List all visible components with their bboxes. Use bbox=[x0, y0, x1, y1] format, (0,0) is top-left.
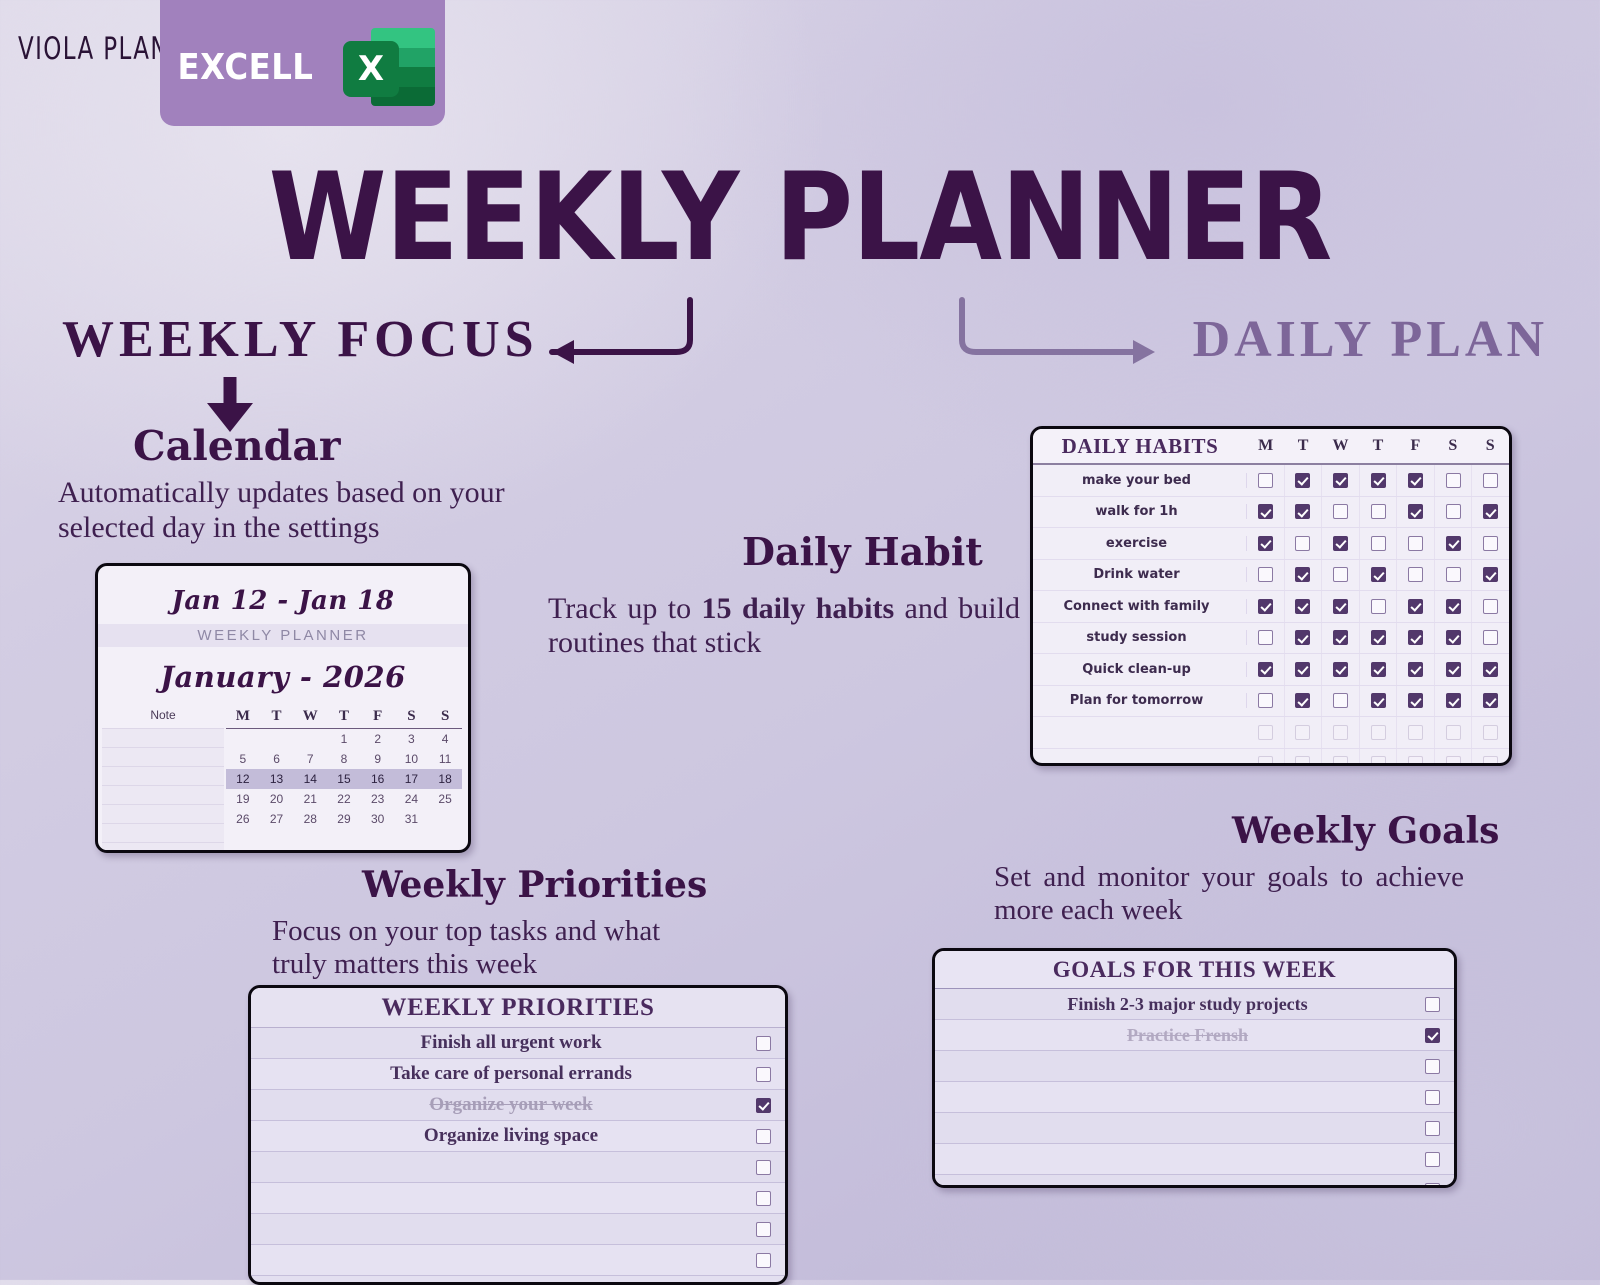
calendar-day-cell[interactable]: 26 bbox=[226, 809, 260, 829]
checkbox-checked-icon[interactable] bbox=[1371, 567, 1386, 582]
habit-day-cell[interactable] bbox=[1472, 591, 1509, 622]
habit-row[interactable]: exercise bbox=[1033, 528, 1509, 560]
habit-day-cell[interactable] bbox=[1472, 749, 1509, 767]
habits-day-header: T bbox=[1284, 437, 1321, 455]
calendar-day-header: T bbox=[327, 708, 361, 729]
checkbox-empty-icon[interactable] bbox=[1446, 567, 1461, 582]
habit-day-cell[interactable] bbox=[1472, 560, 1509, 591]
calendar-description: Automatically updates based on your sele… bbox=[58, 476, 538, 546]
goals-table-title: GOALS FOR THIS WEEK bbox=[935, 951, 1454, 989]
checkbox-empty-icon[interactable] bbox=[1483, 630, 1498, 645]
habit-day-cell[interactable] bbox=[1360, 686, 1398, 717]
calendar-widget[interactable]: Jan 12 - Jan 18 WEEKLY PLANNER January -… bbox=[95, 563, 471, 853]
habit-day-cell[interactable] bbox=[1247, 497, 1285, 528]
checkbox-empty-icon[interactable] bbox=[1425, 1059, 1440, 1074]
calendar-day-cell[interactable]: 30 bbox=[361, 809, 395, 829]
calendar-day-cell[interactable]: 16 bbox=[361, 769, 395, 789]
habit-day-cell[interactable] bbox=[1472, 654, 1509, 685]
habit-day-cell[interactable] bbox=[1435, 686, 1473, 717]
habits-day-header: M bbox=[1247, 437, 1284, 455]
habit-day-cell[interactable] bbox=[1322, 465, 1360, 496]
habit-day-cell[interactable] bbox=[1472, 623, 1509, 654]
habit-name: Connect with family bbox=[1033, 599, 1247, 614]
checkbox-empty-icon[interactable] bbox=[1425, 1090, 1440, 1105]
checkbox-empty-icon[interactable] bbox=[756, 1067, 771, 1082]
daily-habit-heading: Daily Habit bbox=[742, 529, 983, 574]
excel-badge[interactable]: EXCELL X bbox=[160, 0, 445, 126]
checkbox-checked-icon[interactable] bbox=[1408, 693, 1423, 708]
excel-badge-label: EXCELL bbox=[178, 47, 314, 88]
habit-day-cell[interactable] bbox=[1472, 717, 1509, 748]
habit-name: Drink water bbox=[1033, 567, 1247, 582]
calendar-day-cell[interactable] bbox=[293, 729, 327, 749]
habit-name: Quick clean-up bbox=[1033, 662, 1247, 677]
habit-day-cell[interactable] bbox=[1397, 591, 1435, 622]
calendar-note-line[interactable] bbox=[102, 747, 224, 766]
calendar-day-cell[interactable]: 4 bbox=[428, 729, 462, 749]
habits-table-header: DAILY HABITS MTWTFSS bbox=[1033, 429, 1509, 465]
priority-row[interactable] bbox=[251, 1214, 785, 1245]
checkbox-empty-icon[interactable] bbox=[1483, 756, 1498, 766]
checkbox-empty-icon[interactable] bbox=[1295, 536, 1310, 551]
checkbox-empty-icon[interactable] bbox=[1371, 504, 1386, 519]
habit-day-cell[interactable] bbox=[1285, 465, 1323, 496]
checkbox-checked-icon[interactable] bbox=[1258, 662, 1273, 677]
checkbox-checked-icon[interactable] bbox=[1446, 536, 1461, 551]
list-item-checkbox-cell[interactable] bbox=[1410, 1121, 1454, 1136]
list-item-checkbox-cell[interactable] bbox=[1410, 1090, 1454, 1105]
habit-row[interactable]: Connect with family bbox=[1033, 591, 1509, 623]
habit-day-cell[interactable] bbox=[1397, 497, 1435, 528]
habit-day-cell[interactable] bbox=[1360, 528, 1398, 559]
list-item-checkbox-cell[interactable] bbox=[741, 1191, 785, 1206]
checkbox-empty-icon[interactable] bbox=[1483, 536, 1498, 551]
calendar-day-cell[interactable]: 24 bbox=[395, 789, 429, 809]
calendar-day-cell[interactable]: 8 bbox=[327, 749, 361, 769]
list-item-text: Organize living space bbox=[251, 1125, 741, 1147]
calendar-day-cell[interactable]: 5 bbox=[226, 749, 260, 769]
habit-name: exercise bbox=[1033, 536, 1247, 551]
goal-row[interactable] bbox=[935, 1113, 1454, 1144]
calendar-week-row[interactable]: 19202122232425 bbox=[226, 789, 462, 809]
list-item-checkbox-cell[interactable] bbox=[1410, 1059, 1454, 1074]
habits-day-header: W bbox=[1322, 437, 1359, 455]
daily-habit-desc-bold: 15 daily habits bbox=[702, 592, 895, 625]
habits-day-header: S bbox=[1472, 437, 1509, 455]
checkbox-checked-icon[interactable] bbox=[1446, 693, 1461, 708]
habit-row[interactable]: Plan for tomorrow bbox=[1033, 686, 1509, 718]
habit-name: make your bed bbox=[1033, 473, 1247, 488]
habit-day-cell[interactable] bbox=[1247, 591, 1285, 622]
checkbox-empty-icon[interactable] bbox=[1408, 725, 1423, 740]
calendar-day-cell[interactable]: 19 bbox=[226, 789, 260, 809]
checkbox-checked-icon[interactable] bbox=[1425, 1028, 1440, 1043]
checkbox-checked-icon[interactable] bbox=[1408, 630, 1423, 645]
habit-name: study session bbox=[1033, 630, 1247, 645]
habit-day-cell[interactable] bbox=[1472, 497, 1509, 528]
habit-day-cell[interactable] bbox=[1397, 560, 1435, 591]
weekly-goals-table[interactable]: GOALS FOR THIS WEEK Finish 2-3 major stu… bbox=[932, 948, 1457, 1188]
weekly-goals-description: Set and monitor your goals to achieve mo… bbox=[994, 861, 1464, 927]
habit-day-cell[interactable] bbox=[1285, 497, 1323, 528]
calendar-day-cell[interactable] bbox=[226, 729, 260, 749]
calendar-day-cell[interactable]: 22 bbox=[327, 789, 361, 809]
checkbox-empty-icon[interactable] bbox=[1483, 599, 1498, 614]
habit-day-cell[interactable] bbox=[1360, 591, 1398, 622]
weekly-goals-heading: Weekly Goals bbox=[1232, 810, 1499, 852]
habit-day-cell[interactable] bbox=[1247, 623, 1285, 654]
checkbox-checked-icon[interactable] bbox=[1446, 630, 1461, 645]
checkbox-checked-icon[interactable] bbox=[1408, 473, 1423, 488]
calendar-day-cell[interactable]: 6 bbox=[260, 749, 294, 769]
habit-row[interactable]: Drink water bbox=[1033, 560, 1509, 592]
habit-row[interactable]: walk for 1h bbox=[1033, 497, 1509, 529]
habit-day-cell[interactable] bbox=[1322, 654, 1360, 685]
calendar-day-cell[interactable] bbox=[260, 729, 294, 749]
checkbox-empty-icon[interactable] bbox=[1425, 1121, 1440, 1136]
list-item-checkbox-cell[interactable] bbox=[741, 1129, 785, 1144]
checkbox-empty-icon[interactable] bbox=[756, 1129, 771, 1144]
calendar-day-cell[interactable]: 23 bbox=[361, 789, 395, 809]
calendar-day-header: S bbox=[395, 708, 429, 729]
habit-day-cell[interactable] bbox=[1435, 654, 1473, 685]
checkbox-empty-icon[interactable] bbox=[756, 1036, 771, 1051]
habit-day-cell[interactable] bbox=[1435, 465, 1473, 496]
habit-day-cell[interactable] bbox=[1397, 465, 1435, 496]
checkbox-checked-icon[interactable] bbox=[1408, 504, 1423, 519]
calendar-day-cell[interactable]: 27 bbox=[260, 809, 294, 829]
goal-row[interactable]: Finish 2-3 major study projects bbox=[935, 989, 1454, 1020]
habit-day-cell[interactable] bbox=[1285, 560, 1323, 591]
habit-day-cell[interactable] bbox=[1322, 591, 1360, 622]
calendar-note-line[interactable] bbox=[102, 728, 224, 747]
checkbox-checked-icon[interactable] bbox=[1371, 693, 1386, 708]
list-item-text: Finish all urgent work bbox=[251, 1032, 741, 1054]
priorities-table-title: WEEKLY PRIORITIES bbox=[251, 988, 785, 1028]
checkbox-checked-icon[interactable] bbox=[1483, 567, 1498, 582]
habit-row[interactable] bbox=[1033, 717, 1509, 749]
checkbox-empty-icon[interactable] bbox=[1446, 473, 1461, 488]
checkbox-empty-icon[interactable] bbox=[1408, 567, 1423, 582]
checkbox-empty-icon[interactable] bbox=[1371, 756, 1386, 766]
habit-day-cell[interactable] bbox=[1322, 560, 1360, 591]
priority-row[interactable]: Organize living space bbox=[251, 1121, 785, 1152]
calendar-subtitle: WEEKLY PLANNER bbox=[98, 624, 468, 647]
habits-table-title: DAILY HABITS bbox=[1033, 434, 1247, 459]
checkbox-checked-icon[interactable] bbox=[1446, 662, 1461, 677]
priority-row[interactable]: Take care of personal errands bbox=[251, 1059, 785, 1090]
checkbox-checked-icon[interactable] bbox=[1483, 504, 1498, 519]
checkbox-empty-icon[interactable] bbox=[1483, 725, 1498, 740]
checkbox-empty-icon[interactable] bbox=[1295, 756, 1310, 766]
calendar-day-cell[interactable]: 3 bbox=[395, 729, 429, 749]
checkbox-empty-icon[interactable] bbox=[1446, 756, 1461, 766]
brand-header: VIOLA PLANS EXCELL X bbox=[0, 0, 1600, 130]
checkbox-empty-icon[interactable] bbox=[1425, 1152, 1440, 1167]
list-item-checkbox-cell[interactable] bbox=[741, 1036, 785, 1051]
calendar-day-cell[interactable]: 17 bbox=[395, 769, 429, 789]
checkbox-empty-icon[interactable] bbox=[1446, 504, 1461, 519]
habit-day-cell[interactable] bbox=[1285, 591, 1323, 622]
habit-day-cell[interactable] bbox=[1397, 528, 1435, 559]
checkbox-empty-icon[interactable] bbox=[1258, 473, 1273, 488]
checkbox-empty-icon[interactable] bbox=[1333, 504, 1348, 519]
calendar-day-cell[interactable]: 7 bbox=[293, 749, 327, 769]
habit-day-cell[interactable] bbox=[1360, 465, 1398, 496]
checkbox-checked-icon[interactable] bbox=[1371, 662, 1386, 677]
calendar-note-line[interactable] bbox=[102, 804, 224, 823]
list-item-checkbox-cell[interactable] bbox=[741, 1253, 785, 1268]
habit-day-cell[interactable] bbox=[1247, 465, 1285, 496]
list-item-checkbox-cell[interactable] bbox=[1410, 1183, 1454, 1189]
calendar-day-header: F bbox=[361, 708, 395, 729]
checkbox-empty-icon[interactable] bbox=[1258, 630, 1273, 645]
habit-row[interactable]: Quick clean-up bbox=[1033, 654, 1509, 686]
checkbox-empty-icon[interactable] bbox=[1258, 567, 1273, 582]
list-item-text: Organize your week bbox=[251, 1094, 741, 1116]
list-item-text: Take care of personal errands bbox=[251, 1063, 741, 1085]
checkbox-empty-icon[interactable] bbox=[1371, 725, 1386, 740]
checkbox-empty-icon[interactable] bbox=[1333, 693, 1348, 708]
checkbox-empty-icon[interactable] bbox=[1333, 756, 1348, 766]
habit-day-cell[interactable] bbox=[1472, 528, 1509, 559]
calendar-month-grid[interactable]: MTWTFSS 12345678910111213141516171819202… bbox=[224, 708, 468, 853]
checkbox-checked-icon[interactable] bbox=[1408, 599, 1423, 614]
checkbox-checked-icon[interactable] bbox=[1483, 662, 1498, 677]
checkbox-checked-icon[interactable] bbox=[1333, 599, 1348, 614]
checkbox-checked-icon[interactable] bbox=[1446, 599, 1461, 614]
checkbox-checked-icon[interactable] bbox=[1295, 504, 1310, 519]
habits-day-header: S bbox=[1434, 437, 1471, 455]
checkbox-empty-icon[interactable] bbox=[1333, 725, 1348, 740]
calendar-week-row[interactable]: 567891011 bbox=[226, 749, 462, 769]
calendar-week-row[interactable]: 12131415161718 bbox=[226, 769, 462, 789]
habit-day-cell[interactable] bbox=[1472, 686, 1509, 717]
checkbox-checked-icon[interactable] bbox=[1408, 662, 1423, 677]
calendar-day-cell[interactable]: 1 bbox=[327, 729, 361, 749]
habit-day-cell[interactable] bbox=[1285, 749, 1323, 767]
calendar-day-cell[interactable]: 9 bbox=[361, 749, 395, 769]
checkbox-empty-icon[interactable] bbox=[1483, 473, 1498, 488]
checkbox-empty-icon[interactable] bbox=[1258, 756, 1273, 766]
habit-day-cell[interactable] bbox=[1397, 717, 1435, 748]
goal-row[interactable] bbox=[935, 1051, 1454, 1082]
calendar-day-cell[interactable]: 10 bbox=[395, 749, 429, 769]
habit-day-cell[interactable] bbox=[1322, 717, 1360, 748]
checkbox-empty-icon[interactable] bbox=[1425, 997, 1440, 1012]
checkbox-empty-icon[interactable] bbox=[1371, 599, 1386, 614]
calendar-day-header: T bbox=[260, 708, 294, 729]
calendar-week-row[interactable]: 262728293031 bbox=[226, 809, 462, 829]
habit-day-cell[interactable] bbox=[1397, 686, 1435, 717]
habits-day-header: T bbox=[1359, 437, 1396, 455]
habits-day-header: F bbox=[1397, 437, 1434, 455]
calendar-heading: Calendar bbox=[133, 422, 341, 470]
habit-day-cell[interactable] bbox=[1435, 560, 1473, 591]
checkbox-checked-icon[interactable] bbox=[1295, 662, 1310, 677]
checkbox-checked-icon[interactable] bbox=[1295, 473, 1310, 488]
priority-row[interactable]: Organize your week bbox=[251, 1090, 785, 1121]
priority-row[interactable] bbox=[251, 1245, 785, 1276]
habit-day-cell[interactable] bbox=[1397, 749, 1435, 767]
habit-day-cell[interactable] bbox=[1360, 623, 1398, 654]
checkbox-checked-icon[interactable] bbox=[1258, 536, 1273, 551]
daily-habits-table[interactable]: DAILY HABITS MTWTFSS make your bedwalk f… bbox=[1030, 426, 1512, 766]
page-title: WEEKLY PLANNER bbox=[8, 158, 1592, 279]
calendar-note-line[interactable] bbox=[102, 785, 224, 804]
habit-day-cell[interactable] bbox=[1285, 686, 1323, 717]
calendar-day-cell[interactable]: 14 bbox=[293, 769, 327, 789]
calendar-day-cell[interactable]: 18 bbox=[428, 769, 462, 789]
checkbox-checked-icon[interactable] bbox=[756, 1098, 771, 1113]
checkbox-checked-icon[interactable] bbox=[1295, 567, 1310, 582]
checkbox-checked-icon[interactable] bbox=[1333, 473, 1348, 488]
habit-day-cell[interactable] bbox=[1360, 717, 1398, 748]
calendar-note-line[interactable] bbox=[102, 823, 224, 842]
checkbox-checked-icon[interactable] bbox=[1371, 630, 1386, 645]
checkbox-empty-icon[interactable] bbox=[1408, 756, 1423, 766]
list-item-checkbox-cell[interactable] bbox=[741, 1160, 785, 1175]
checkbox-empty-icon[interactable] bbox=[1333, 567, 1348, 582]
checkbox-empty-icon[interactable] bbox=[756, 1191, 771, 1206]
calendar-week-row[interactable]: 1234 bbox=[226, 729, 462, 749]
checkbox-checked-icon[interactable] bbox=[1258, 504, 1273, 519]
habit-day-cell[interactable] bbox=[1247, 686, 1285, 717]
habit-day-cell[interactable] bbox=[1247, 717, 1285, 748]
habit-day-cell[interactable] bbox=[1435, 623, 1473, 654]
checkbox-empty-icon[interactable] bbox=[756, 1253, 771, 1268]
checkbox-checked-icon[interactable] bbox=[1483, 693, 1498, 708]
habit-day-cell[interactable] bbox=[1435, 528, 1473, 559]
excel-x-tile: X bbox=[343, 41, 399, 97]
habit-day-cell[interactable] bbox=[1397, 623, 1435, 654]
checkbox-empty-icon[interactable] bbox=[1258, 725, 1273, 740]
daily-habit-description: Track up to 15 daily habits and build ro… bbox=[548, 592, 1020, 659]
checkbox-empty-icon[interactable] bbox=[1258, 693, 1273, 708]
goal-row[interactable]: Practice Frensh bbox=[935, 1020, 1454, 1051]
list-item-checkbox-cell[interactable] bbox=[1410, 997, 1454, 1012]
calendar-note-line[interactable] bbox=[102, 766, 224, 785]
habit-day-cell[interactable] bbox=[1435, 717, 1473, 748]
habit-day-cell[interactable] bbox=[1360, 654, 1398, 685]
calendar-day-cell[interactable]: 13 bbox=[260, 769, 294, 789]
habit-day-cell[interactable] bbox=[1360, 497, 1398, 528]
habit-day-cell[interactable] bbox=[1285, 623, 1323, 654]
habit-day-cell[interactable] bbox=[1322, 686, 1360, 717]
goal-row[interactable] bbox=[935, 1175, 1454, 1188]
checkbox-empty-icon[interactable] bbox=[756, 1160, 771, 1175]
priority-row[interactable] bbox=[251, 1152, 785, 1183]
calendar-day-cell[interactable]: 31 bbox=[395, 809, 429, 829]
weekly-priorities-description: Focus on your top tasks and what truly m… bbox=[272, 915, 692, 981]
list-item-checkbox-cell[interactable] bbox=[741, 1222, 785, 1237]
checkbox-empty-icon[interactable] bbox=[1295, 725, 1310, 740]
goal-row[interactable] bbox=[935, 1144, 1454, 1175]
checkbox-empty-icon[interactable] bbox=[1371, 536, 1386, 551]
calendar-day-cell[interactable]: 29 bbox=[327, 809, 361, 829]
checkbox-checked-icon[interactable] bbox=[1295, 630, 1310, 645]
excel-icon: X bbox=[343, 28, 435, 106]
habit-day-cell[interactable] bbox=[1435, 749, 1473, 767]
calendar-day-cell[interactable]: 12 bbox=[226, 769, 260, 789]
calendar-day-cell[interactable]: 21 bbox=[293, 789, 327, 809]
checkbox-checked-icon[interactable] bbox=[1333, 630, 1348, 645]
list-item-checkbox-cell[interactable] bbox=[741, 1067, 785, 1082]
calendar-day-cell[interactable]: 20 bbox=[260, 789, 294, 809]
habit-name: Plan for tomorrow bbox=[1033, 693, 1247, 708]
checkbox-empty-icon[interactable] bbox=[1408, 536, 1423, 551]
habit-row[interactable] bbox=[1033, 749, 1509, 767]
checkbox-empty-icon[interactable] bbox=[1425, 1183, 1440, 1189]
habit-day-cell[interactable] bbox=[1472, 465, 1509, 496]
goal-row[interactable] bbox=[935, 1082, 1454, 1113]
habit-day-cell[interactable] bbox=[1247, 528, 1285, 559]
calendar-week-range: Jan 12 - Jan 18 bbox=[98, 566, 468, 616]
habit-day-cell[interactable] bbox=[1360, 749, 1398, 767]
habit-day-cell[interactable] bbox=[1322, 749, 1360, 767]
habit-day-cell[interactable] bbox=[1285, 654, 1323, 685]
habit-day-cell[interactable] bbox=[1247, 749, 1285, 767]
priority-row[interactable] bbox=[251, 1183, 785, 1214]
calendar-day-header: M bbox=[226, 708, 260, 729]
checkbox-checked-icon[interactable] bbox=[1295, 693, 1310, 708]
calendar-day-cell[interactable]: 2 bbox=[361, 729, 395, 749]
habit-row[interactable]: study session bbox=[1033, 623, 1509, 655]
checkbox-checked-icon[interactable] bbox=[1371, 473, 1386, 488]
calendar-day-header: S bbox=[428, 708, 462, 729]
priority-row[interactable]: Finish all urgent work bbox=[251, 1028, 785, 1059]
calendar-month-year: January - 2026 bbox=[98, 660, 468, 694]
habit-day-cell[interactable] bbox=[1285, 528, 1323, 559]
calendar-note-label: Note bbox=[102, 708, 224, 728]
habit-day-cell[interactable] bbox=[1397, 654, 1435, 685]
checkbox-checked-icon[interactable] bbox=[1333, 536, 1348, 551]
daily-habit-desc-1: Track up to bbox=[548, 592, 702, 625]
weekly-priorities-table[interactable]: WEEKLY PRIORITIES Finish all urgent work… bbox=[248, 985, 788, 1285]
habit-day-cell[interactable] bbox=[1322, 497, 1360, 528]
habit-day-cell[interactable] bbox=[1435, 591, 1473, 622]
checkbox-checked-icon[interactable] bbox=[1333, 662, 1348, 677]
calendar-day-cell[interactable] bbox=[428, 809, 462, 829]
list-item-checkbox-cell[interactable] bbox=[1410, 1028, 1454, 1043]
habit-day-cell[interactable] bbox=[1360, 560, 1398, 591]
habit-row[interactable]: make your bed bbox=[1033, 465, 1509, 497]
habit-name: walk for 1h bbox=[1033, 504, 1247, 519]
list-item-checkbox-cell[interactable] bbox=[1410, 1152, 1454, 1167]
checkbox-checked-icon[interactable] bbox=[1295, 599, 1310, 614]
habit-day-cell[interactable] bbox=[1247, 560, 1285, 591]
habit-day-cell[interactable] bbox=[1435, 497, 1473, 528]
checkbox-empty-icon[interactable] bbox=[1446, 725, 1461, 740]
habit-day-cell[interactable] bbox=[1322, 623, 1360, 654]
calendar-day-cell[interactable]: 28 bbox=[293, 809, 327, 829]
checkbox-empty-icon[interactable] bbox=[756, 1222, 771, 1237]
list-item-checkbox-cell[interactable] bbox=[741, 1098, 785, 1113]
list-item-text: Finish 2-3 major study projects bbox=[935, 994, 1410, 1015]
section-banner-daily-plan: DAILY PLAN bbox=[1193, 310, 1548, 369]
calendar-day-header: W bbox=[293, 708, 327, 729]
calendar-day-cell[interactable]: 15 bbox=[327, 769, 361, 789]
habit-day-cell[interactable] bbox=[1322, 528, 1360, 559]
calendar-note-area[interactable]: Note bbox=[98, 708, 224, 853]
checkbox-checked-icon[interactable] bbox=[1258, 599, 1273, 614]
habit-day-cell[interactable] bbox=[1285, 717, 1323, 748]
calendar-day-cell[interactable]: 11 bbox=[428, 749, 462, 769]
habit-day-cell[interactable] bbox=[1247, 654, 1285, 685]
calendar-note-line[interactable] bbox=[102, 842, 224, 853]
weekly-priorities-heading: Weekly Priorities bbox=[362, 864, 707, 906]
calendar-day-cell[interactable]: 25 bbox=[428, 789, 462, 809]
